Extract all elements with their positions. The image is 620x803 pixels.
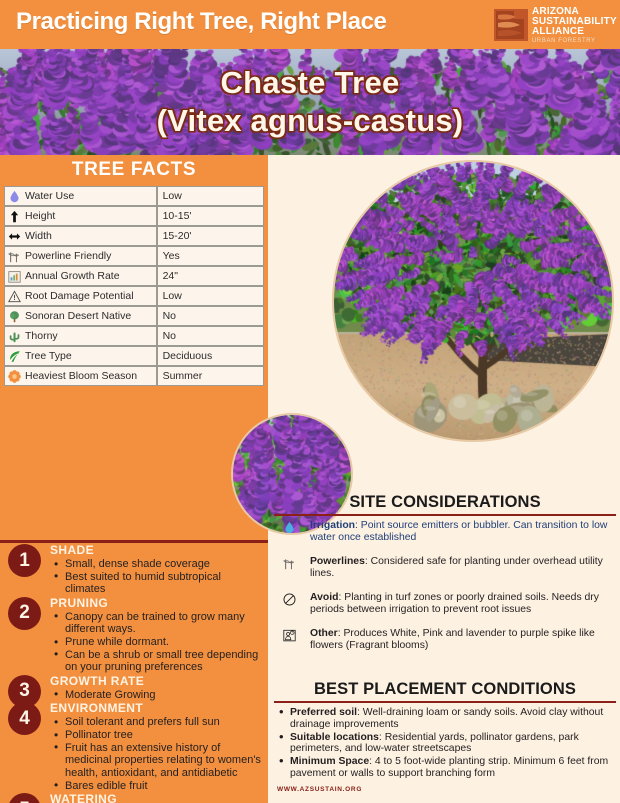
table-row: Tree TypeDeciduous (4, 346, 264, 366)
hero-banner: Chaste Tree (Vitex agnus-castus) (0, 49, 620, 155)
care-section: 2PRUNINGCanopy can be trained to grow ma… (0, 597, 268, 674)
fact-label-cell: Thorny (4, 326, 157, 346)
left-right-arrow-icon (8, 230, 21, 243)
table-row: Heaviest Bloom SeasonSummer (4, 366, 264, 386)
fact-label-cell: Annual Growth Rate (4, 266, 157, 286)
list-item: Suitable locations: Residential yards, p… (290, 732, 616, 756)
best-placement-rule (274, 701, 616, 703)
list-item: Minimum Space: 4 to 5 foot-wide planting… (290, 756, 616, 780)
page-title: Practicing Right Tree, Right Place (16, 8, 387, 36)
cactus-icon (8, 330, 21, 343)
tree-scientific-name: (Vitex agnus-castus) (157, 103, 464, 139)
care-section-title: SHADE (50, 544, 262, 557)
care-section-title: ENVIRONMENT (50, 702, 262, 715)
fact-label: Annual Growth Rate (25, 270, 120, 282)
list-item: Moderate Growing (63, 689, 262, 701)
fact-label-cell: Height (4, 206, 157, 226)
fact-value: No (163, 330, 176, 342)
site-consideration-label: Other (310, 628, 338, 639)
care-section-title: GROWTH RATE (50, 675, 262, 688)
site-consideration-text: Other: Produces White, Pink and lavender… (310, 628, 616, 651)
care-section: 1SHADESmall, dense shade coverageBest su… (0, 544, 268, 596)
list-item: Best suited to humid subtropical climate… (63, 571, 262, 596)
site-consideration-label: Powerlines (310, 556, 365, 567)
fact-value: Low (163, 190, 182, 202)
fact-label-cell: Width (4, 226, 157, 246)
care-section-bullets: Soil tolerant and prefers full sunPollin… (50, 716, 262, 792)
site-consideration-label: Irrigation (310, 520, 355, 531)
fact-value: Yes (163, 250, 180, 262)
table-row: ThornyNo (4, 326, 264, 346)
fact-label: Sonoran Desert Native (25, 310, 131, 322)
list-item: Bares edible fruit (63, 780, 262, 792)
fact-value-cell: Summer (157, 366, 264, 386)
table-row: Sonoran Desert NativeNo (4, 306, 264, 326)
tree-facts-table: Water UseLowHeight10-15'Width15-20'Power… (4, 186, 264, 386)
fact-value-cell: Low (157, 286, 264, 306)
care-section-number: 5 (8, 793, 41, 803)
table-row: Height10-15' (4, 206, 264, 226)
fact-value-cell: Yes (157, 246, 264, 266)
tree-photo-circle (332, 160, 614, 442)
care-section-title: PRUNING (50, 597, 262, 610)
list-item: Small, dense shade coverage (63, 558, 262, 570)
fact-value: 24" (163, 270, 178, 282)
fact-label-cell: Water Use (4, 186, 157, 206)
flower-icon (8, 370, 21, 383)
up-arrow-icon (8, 210, 21, 223)
fact-value-cell: No (157, 326, 264, 346)
site-consideration-text: Avoid: Planting in turf zones or poorly … (310, 592, 616, 615)
care-section-bullets: Canopy can be trained to grow many diffe… (50, 611, 262, 674)
list-item: Fruit has an extensive history of medici… (63, 742, 262, 779)
water-drop-icon (274, 520, 304, 551)
fact-value-cell: Low (157, 186, 264, 206)
best-placement-list: Preferred soil: Well-draining loam or sa… (274, 707, 616, 780)
table-row: Root Damage PotentialLow (4, 286, 264, 306)
site-consideration-label: Avoid (310, 592, 338, 603)
arizona-state-shape-icon (494, 7, 528, 43)
care-section-title: WATERING (50, 793, 262, 803)
care-section-bullets: Moderate Growing (50, 689, 262, 701)
organization-logo: ARIZONA SUSTAINABILITY ALLIANCE URBAN FO… (494, 4, 612, 46)
water-drop-icon (8, 190, 21, 203)
care-section: 3GROWTH RATEModerate Growing (0, 675, 268, 701)
site-consideration-body: : Planting in turf zones or poorly drain… (310, 592, 599, 615)
tree-facts-heading: TREE FACTS (0, 155, 268, 185)
care-section-number: 4 (8, 702, 41, 735)
section-divider (0, 540, 268, 543)
list-item: Soil tolerant and prefers full sun (63, 716, 262, 728)
fact-value-cell: 10-15' (157, 206, 264, 226)
logo-wordmark: ARIZONA SUSTAINABILITY ALLIANCE URBAN FO… (532, 7, 617, 44)
fact-value: 15-20' (163, 230, 192, 242)
fact-value: No (163, 310, 176, 322)
fact-label-cell: Root Damage Potential (4, 286, 157, 306)
table-row: Powerline FriendlyYes (4, 246, 264, 266)
site-consideration-item: Irrigation: Point source emitters or bub… (274, 520, 616, 551)
care-section: 5WATERINGApply regular, deep water from … (0, 793, 268, 803)
leaf-icon (8, 350, 21, 363)
placement-label: Suitable locations (290, 732, 379, 743)
list-item: Prune while dormant. (63, 636, 262, 648)
logo-line-3: ALLIANCE (532, 27, 617, 37)
fact-label: Height (25, 210, 55, 222)
list-item: Pollinator tree (63, 729, 262, 741)
list-item: Preferred soil: Well-draining loam or sa… (290, 707, 616, 731)
best-placement-section: BEST PLACEMENT CONDITIONS Preferred soil… (274, 680, 616, 781)
fact-label: Root Damage Potential (25, 290, 134, 302)
fact-label: Heaviest Bloom Season (25, 370, 137, 382)
fact-label-cell: Heaviest Bloom Season (4, 366, 157, 386)
placement-label: Preferred soil (290, 707, 357, 718)
care-sections-list: 1SHADESmall, dense shade coverageBest su… (0, 544, 268, 803)
fact-label: Powerline Friendly (25, 250, 111, 262)
site-consideration-body: : Produces White, Pink and lavender to p… (310, 628, 595, 651)
site-consideration-body: : Point source emitters or bubbler. Can … (310, 520, 607, 543)
table-row: Width15-20' (4, 226, 264, 246)
table-row: Water UseLow (4, 186, 264, 206)
tree-common-name: Chaste Tree (220, 65, 399, 101)
powerline-icon (274, 556, 304, 587)
fact-label-cell: Tree Type (4, 346, 157, 366)
fact-value: 10-15' (163, 210, 192, 222)
fact-label-cell: Sonoran Desert Native (4, 306, 157, 326)
infographic-page: Practicing Right Tree, Right Place ARIZO… (0, 0, 620, 803)
care-section-number: 1 (8, 544, 41, 577)
warning-triangle-icon (8, 290, 21, 303)
fact-value-cell: No (157, 306, 264, 326)
list-item: Can be a shrub or small tree depending o… (63, 649, 262, 674)
list-item: Canopy can be trained to grow many diffe… (63, 611, 262, 636)
best-placement-heading: BEST PLACEMENT CONDITIONS (274, 680, 616, 699)
left-orange-panel: TREE FACTS Water UseLowHeight10-15'Width… (0, 155, 268, 803)
care-section-bullets: Small, dense shade coverageBest suited t… (50, 558, 262, 596)
fact-label: Tree Type (25, 350, 72, 362)
fact-label: Width (25, 230, 52, 242)
fact-label: Thorny (25, 330, 58, 342)
logo-line-4: URBAN FORESTRY (532, 38, 617, 44)
fact-value: Low (163, 290, 182, 302)
tree-icon (8, 310, 21, 323)
powerline-icon (8, 250, 21, 263)
care-section: 4ENVIRONMENTSoil tolerant and prefers fu… (0, 702, 268, 792)
fact-label-cell: Powerline Friendly (4, 246, 157, 266)
fact-value-cell: Deciduous (157, 346, 264, 366)
prohibition-icon (274, 592, 304, 623)
site-consideration-item: Avoid: Planting in turf zones or poorly … (274, 592, 616, 623)
site-considerations-rule (274, 514, 616, 516)
footer-url: WWW.AZSUSTAIN.ORG (277, 786, 362, 793)
site-considerations-section: SITE CONSIDERATIONS Irrigation: Point so… (274, 493, 616, 664)
care-section-number: 2 (8, 597, 41, 630)
info-person-icon: ? (274, 628, 304, 659)
site-consideration-text: Irrigation: Point source emitters or bub… (310, 520, 616, 543)
tree-facts-heading-label: TREE FACTS (72, 159, 196, 181)
placement-label: Minimum Space (290, 756, 369, 767)
site-considerations-heading: SITE CONSIDERATIONS (274, 493, 616, 512)
bar-chart-icon (8, 270, 21, 283)
table-row: Annual Growth Rate24" (4, 266, 264, 286)
fact-value-cell: 24" (157, 266, 264, 286)
logo-line-2: SUSTAINABILITY (532, 17, 617, 27)
site-consideration-item: Powerlines: Considered safe for planting… (274, 556, 616, 587)
fact-value-cell: 15-20' (157, 226, 264, 246)
logo-line-1: ARIZONA (532, 7, 617, 17)
top-header-bar: Practicing Right Tree, Right Place ARIZO… (0, 0, 620, 49)
fact-value: Deciduous (163, 350, 213, 362)
site-consideration-item: ?Other: Produces White, Pink and lavende… (274, 628, 616, 659)
fact-value: Summer (163, 370, 203, 382)
site-consideration-text: Powerlines: Considered safe for planting… (310, 556, 616, 579)
fact-label: Water Use (25, 190, 74, 202)
